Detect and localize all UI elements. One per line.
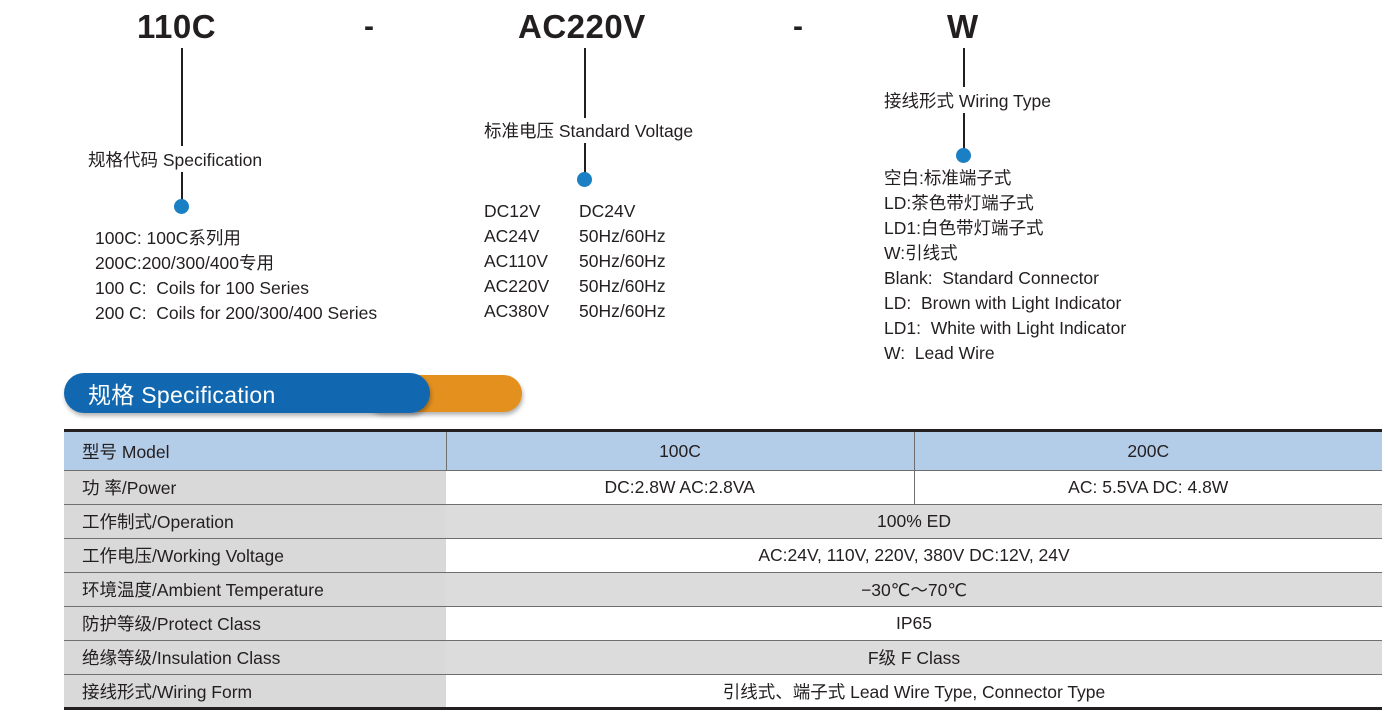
spec-option: 100C: 100C系列用 [95, 226, 377, 251]
leader-line-voltage-upper [584, 48, 586, 118]
callout-title-wiring: 接线形式 Wiring Type [884, 88, 1051, 113]
table-row: 功 率/Power DC:2.8W AC:2.8VA AC: 5.5VA DC:… [64, 471, 1382, 505]
voltage-frequency: DC24V [579, 199, 666, 224]
row-label-wiring-form: 接线形式/Wiring Form [64, 675, 446, 709]
voltage-code: AC24V [484, 224, 579, 249]
callout-list-voltage: DC12V DC24V AC24V 50Hz/60Hz AC110V 50Hz/… [484, 199, 666, 324]
table-row: 工作电压/Working Voltage AC:24V, 110V, 220V,… [64, 539, 1382, 573]
row-label-power: 功 率/Power [64, 471, 446, 505]
leader-line-specification-lower [181, 172, 183, 202]
wiring-option: LD1: White with Light Indicator [884, 316, 1126, 341]
row-label-working-voltage: 工作电压/Working Voltage [64, 539, 446, 573]
leader-line-wiring-upper [963, 48, 965, 87]
table-row: 绝缘等级/Insulation Class F级 F Class [64, 641, 1382, 675]
row-label-protect-class: 防护等级/Protect Class [64, 607, 446, 641]
wiring-option: LD1:白色带灯端子式 [884, 216, 1126, 241]
table-header-label: 型号 Model [64, 431, 446, 471]
leader-dot-specification [174, 199, 189, 214]
voltage-frequency: 50Hz/60Hz [579, 249, 666, 274]
row-label-ambient-temperature: 环境温度/Ambient Temperature [64, 573, 446, 607]
wiring-option: W:引线式 [884, 241, 1126, 266]
wiring-option: 空白:标准端子式 [884, 166, 1126, 191]
section-banner-title: 规格 Specification [64, 376, 276, 410]
leader-line-voltage-lower [584, 143, 586, 175]
table-row: 防护等级/Protect Class IP65 [64, 607, 1382, 641]
wiring-option: Blank: Standard Connector [884, 266, 1126, 291]
model-code-specification: 110C [137, 8, 216, 46]
model-code-voltage: AC220V [518, 8, 646, 46]
wiring-option: W: Lead Wire [884, 341, 1126, 366]
spec-option: 100 C: Coils for 100 Series [95, 276, 377, 301]
row-value-insulation-class: F级 F Class [446, 641, 1382, 675]
table-row: 环境温度/Ambient Temperature −30℃～70℃ [64, 573, 1382, 607]
callout-title-specification: 规格代码 Specification [88, 147, 262, 172]
table-header-col-200c: 200C [914, 431, 1382, 471]
spec-option: 200 C: Coils for 200/300/400 Series [95, 301, 377, 326]
voltage-frequency: 50Hz/60Hz [579, 274, 666, 299]
row-value-protect-class: IP65 [446, 607, 1382, 641]
leader-line-wiring-lower [963, 113, 965, 152]
wiring-option: LD: Brown with Light Indicator [884, 291, 1126, 316]
model-code-wiring: W [947, 8, 979, 46]
row-value-working-voltage: AC:24V, 110V, 220V, 380V DC:12V, 24V [446, 539, 1382, 573]
callout-title-voltage: 标准电压 Standard Voltage [484, 118, 693, 143]
row-label-operation: 工作制式/Operation [64, 505, 446, 539]
spec-sheet-page: 110C - AC220V - W 规格代码 Specification 100… [0, 0, 1388, 719]
callout-list-wiring: 空白:标准端子式 LD:茶色带灯端子式 LD1:白色带灯端子式 W:引线式 Bl… [884, 166, 1126, 366]
row-value-ambient-temperature: −30℃～70℃ [446, 573, 1382, 607]
voltage-code: DC12V [484, 199, 579, 224]
banner-blue-pill: 规格 Specification [64, 373, 430, 413]
spec-option: 200C:200/300/400专用 [95, 251, 377, 276]
row-value-wiring-form: 引线式、端子式 Lead Wire Type, Connector Type [446, 675, 1382, 709]
row-value-operation: 100% ED [446, 505, 1382, 539]
row-value-power-100c: DC:2.8W AC:2.8VA [446, 471, 914, 505]
callout-list-specification: 100C: 100C系列用 200C:200/300/400专用 100 C: … [95, 226, 377, 326]
voltage-code: AC220V [484, 274, 579, 299]
voltage-code: AC110V [484, 249, 579, 274]
row-label-insulation-class: 绝缘等级/Insulation Class [64, 641, 446, 675]
table-header-col-100c: 100C [446, 431, 914, 471]
specification-table: 型号 Model 100C 200C 功 率/Power DC:2.8W AC:… [64, 429, 1382, 710]
leader-dot-wiring [956, 148, 971, 163]
wiring-option: LD:茶色带灯端子式 [884, 191, 1126, 216]
leader-dot-voltage [577, 172, 592, 187]
row-value-power-200c: AC: 5.5VA DC: 4.8W [914, 471, 1382, 505]
voltage-frequency: 50Hz/60Hz [579, 224, 666, 249]
model-code-separator-2: - [793, 10, 803, 44]
voltage-frequency: 50Hz/60Hz [579, 299, 666, 324]
voltage-code: AC380V [484, 299, 579, 324]
leader-line-specification-upper [181, 48, 183, 146]
model-code-separator-1: - [364, 10, 374, 44]
table-header-row: 型号 Model 100C 200C [64, 431, 1382, 471]
table-row: 工作制式/Operation 100% ED [64, 505, 1382, 539]
table-row: 接线形式/Wiring Form 引线式、端子式 Lead Wire Type,… [64, 675, 1382, 709]
